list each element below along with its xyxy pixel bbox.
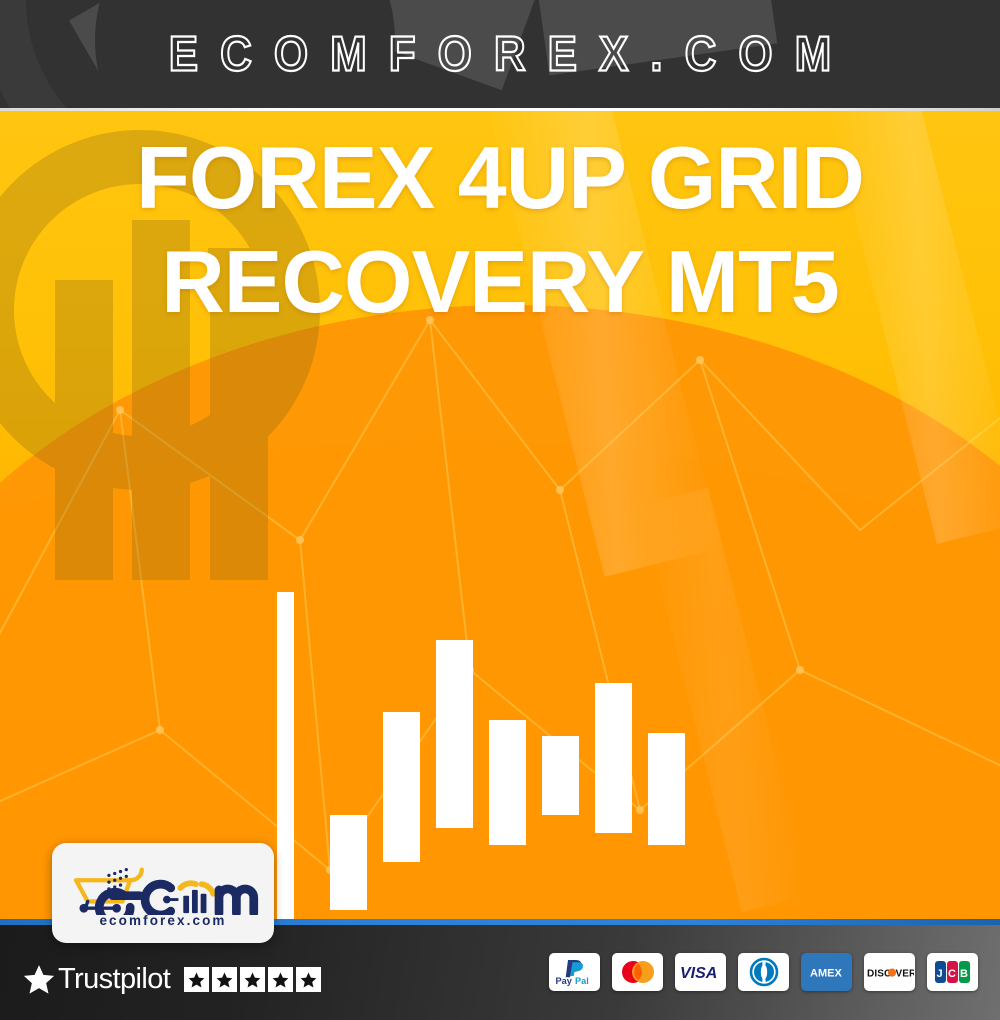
star-icon: [296, 967, 321, 992]
chart-bars: [330, 640, 685, 910]
diners-club-icon[interactable]: [738, 953, 789, 991]
page-title-line-1: FOREX 4UP GRID: [30, 126, 970, 230]
trustpilot-brand: Trustpilot: [22, 963, 170, 996]
header-divider: [0, 108, 1000, 111]
page-title-line-2: RECOVERY MT5: [30, 230, 970, 334]
promo-banner: ECOMFOREX.COM: [0, 0, 1000, 1020]
svg-text:J: J: [936, 968, 942, 980]
hero-section: FOREX 4UP GRID RECOVERY MT5: [0, 110, 1000, 920]
site-name: ECOMFOREX.COM: [0, 0, 1000, 117]
svg-text:Pal: Pal: [575, 976, 589, 986]
svg-text:DISC: DISC: [867, 969, 891, 980]
svg-text:Pay: Pay: [555, 976, 572, 986]
star-icon: [184, 967, 209, 992]
paypal-icon[interactable]: Pay Pal: [549, 953, 600, 991]
trustpilot-rating[interactable]: Trustpilot: [22, 963, 321, 996]
svg-text:B: B: [960, 968, 968, 980]
bar-chart-icon: [270, 580, 740, 920]
mastercard-icon[interactable]: [612, 953, 663, 991]
svg-text:C: C: [948, 968, 956, 980]
star-icon: [268, 967, 293, 992]
star-icon: [240, 967, 265, 992]
logo-domain-label: ecomforex.com: [99, 913, 226, 928]
brand-logo-card[interactable]: ecomforex.com: [52, 843, 274, 943]
star-icon: [212, 967, 237, 992]
discover-icon[interactable]: DISC VER: [864, 953, 915, 991]
ecomforex-logo-icon: [65, 859, 261, 915]
trustpilot-label: Trustpilot: [58, 963, 170, 996]
svg-text:AMEX: AMEX: [810, 968, 842, 980]
payment-methods: Pay Pal VISA: [549, 953, 978, 991]
star-icon: [22, 963, 56, 996]
page-title: FOREX 4UP GRID RECOVERY MT5: [0, 126, 1000, 334]
trustpilot-stars: [184, 967, 321, 992]
svg-text:VISA: VISA: [680, 965, 717, 982]
svg-text:VER: VER: [895, 969, 914, 980]
amex-icon[interactable]: AMEX: [801, 953, 852, 991]
visa-icon[interactable]: VISA: [675, 953, 726, 991]
jcb-icon[interactable]: J C B: [927, 953, 978, 991]
